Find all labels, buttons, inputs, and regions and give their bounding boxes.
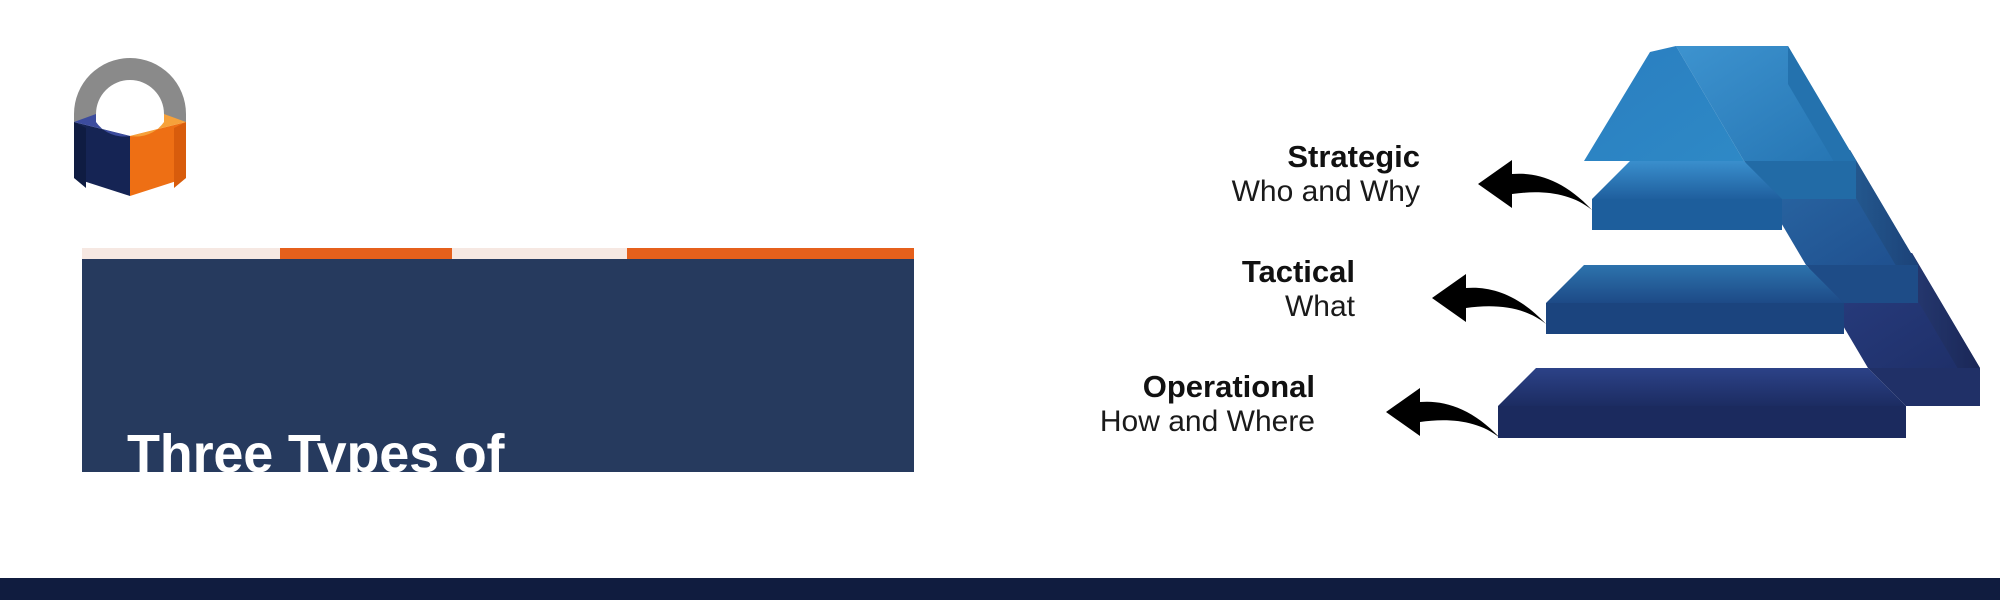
slide-canvas: Three Types of Cyber Threat Intelligence… <box>0 0 2000 600</box>
padlock-right-shadow <box>174 122 186 188</box>
level-subtitle-tactical: What <box>1000 290 1355 325</box>
accent-segment-1 <box>82 248 280 259</box>
level-title-operational: Operational <box>1000 370 1315 405</box>
three-tier-pyramid <box>1470 38 1980 483</box>
pyramid-mid-front-edge <box>1546 303 1844 334</box>
padlock-logo <box>60 18 200 196</box>
page-title: Three Types of Cyber Threat Intelligence <box>127 290 767 600</box>
padlock-left-shadow <box>74 122 86 188</box>
level-label-tactical: Tactical What <box>1000 255 1355 325</box>
level-subtitle-strategic: Who and Why <box>1000 175 1420 210</box>
padlock-shackle <box>74 58 186 122</box>
footer-bar <box>0 578 2000 600</box>
level-label-operational: Operational How and Where <box>1000 370 1315 440</box>
pyramid-top-front-edge <box>1592 199 1782 230</box>
level-label-strategic: Strategic Who and Why <box>1000 140 1420 210</box>
accent-segment-2 <box>280 248 452 259</box>
level-title-strategic: Strategic <box>1000 140 1420 175</box>
pyramid-bottom-front <box>1498 368 1906 406</box>
title-line-1: Three Types of <box>127 422 767 488</box>
level-title-tactical: Tactical <box>1000 255 1355 290</box>
pyramid-bottom-front-edge <box>1498 406 1906 438</box>
pyramid-mid-front <box>1546 265 1844 303</box>
accent-segment-4 <box>627 248 914 259</box>
level-subtitle-operational: How and Where <box>1000 405 1315 440</box>
accent-segment-3 <box>452 248 627 259</box>
title-banner: Three Types of Cyber Threat Intelligence <box>82 248 914 472</box>
banner-accent-strip <box>82 248 914 259</box>
